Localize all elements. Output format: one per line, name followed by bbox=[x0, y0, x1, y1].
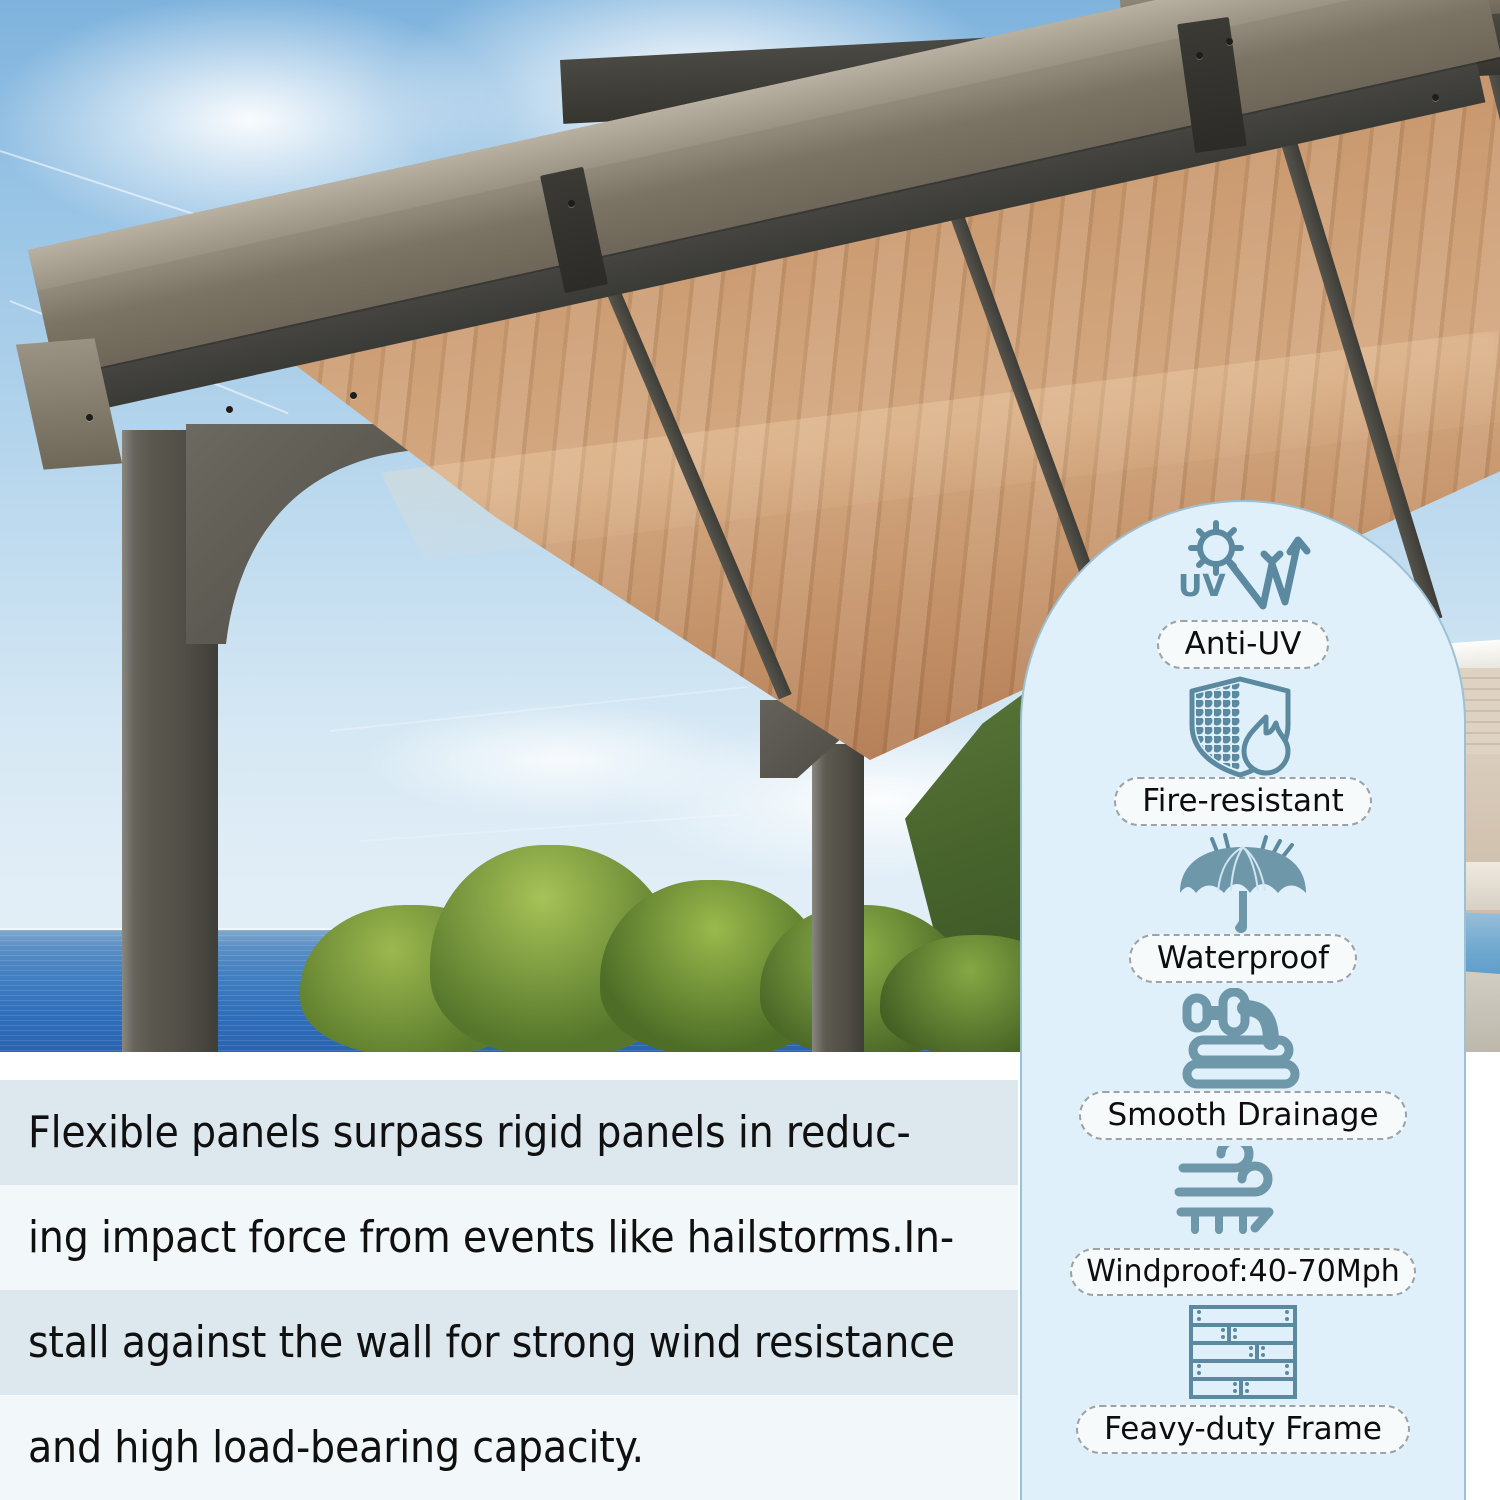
post-highlight bbox=[812, 744, 824, 1052]
feature-item-heavy-duty-frame[interactable]: Feavy-duty Frame bbox=[1022, 1301, 1464, 1458]
description-line: and high load-bearing capacity. bbox=[0, 1395, 1018, 1500]
feature-panel: UV Anti-UV bbox=[1020, 500, 1466, 1500]
wind-gust-icon bbox=[1173, 1144, 1313, 1248]
description-line: stall against the wall for strong wind r… bbox=[0, 1290, 1018, 1395]
photo-text-divider bbox=[0, 1052, 1018, 1080]
feature-item-fire-resistant[interactable]: Fire-resistant bbox=[1022, 673, 1464, 830]
bolt bbox=[568, 200, 575, 207]
svg-text:UV: UV bbox=[1178, 569, 1226, 604]
pergola-post-right bbox=[812, 744, 864, 1052]
feature-item-waterproof[interactable]: Waterproof bbox=[1022, 830, 1464, 987]
umbrella-rain-icon bbox=[1168, 830, 1318, 934]
product-feature-image: Flexible panels surpass rigid panels in … bbox=[0, 0, 1500, 1500]
description-block: Flexible panels surpass rigid panels in … bbox=[0, 1080, 1018, 1500]
shield-flame-icon bbox=[1178, 673, 1308, 777]
feature-label: Smooth Drainage bbox=[1079, 1091, 1406, 1140]
stacked-frame-icon bbox=[1183, 1301, 1303, 1405]
feature-item-smooth-drainage[interactable]: Smooth Drainage bbox=[1022, 987, 1464, 1144]
uv-sun-arrows-icon: UV bbox=[1168, 516, 1318, 620]
bolt bbox=[226, 406, 233, 413]
feature-label: Anti-UV bbox=[1157, 620, 1330, 669]
description-line: ing impact force from events like hailst… bbox=[0, 1185, 1018, 1290]
feature-item-windproof[interactable]: Windproof:40-70Mph bbox=[1022, 1144, 1464, 1301]
feature-list: UV Anti-UV bbox=[1022, 502, 1464, 1500]
bolt bbox=[1226, 38, 1233, 45]
post-highlight bbox=[122, 430, 134, 1052]
feature-label: Windproof:40-70Mph bbox=[1070, 1248, 1416, 1296]
bolt bbox=[1196, 52, 1203, 59]
feature-label: Feavy-duty Frame bbox=[1076, 1405, 1410, 1454]
feature-label: Waterproof bbox=[1129, 934, 1357, 983]
bolt bbox=[86, 414, 93, 421]
bolt bbox=[1432, 94, 1439, 101]
feature-label: Fire-resistant bbox=[1114, 777, 1372, 826]
bolt bbox=[350, 392, 357, 399]
garden-hose-icon bbox=[1173, 987, 1313, 1091]
feature-item-anti-uv[interactable]: UV Anti-UV bbox=[1022, 516, 1464, 673]
description-line: Flexible panels surpass rigid panels in … bbox=[0, 1080, 1018, 1185]
